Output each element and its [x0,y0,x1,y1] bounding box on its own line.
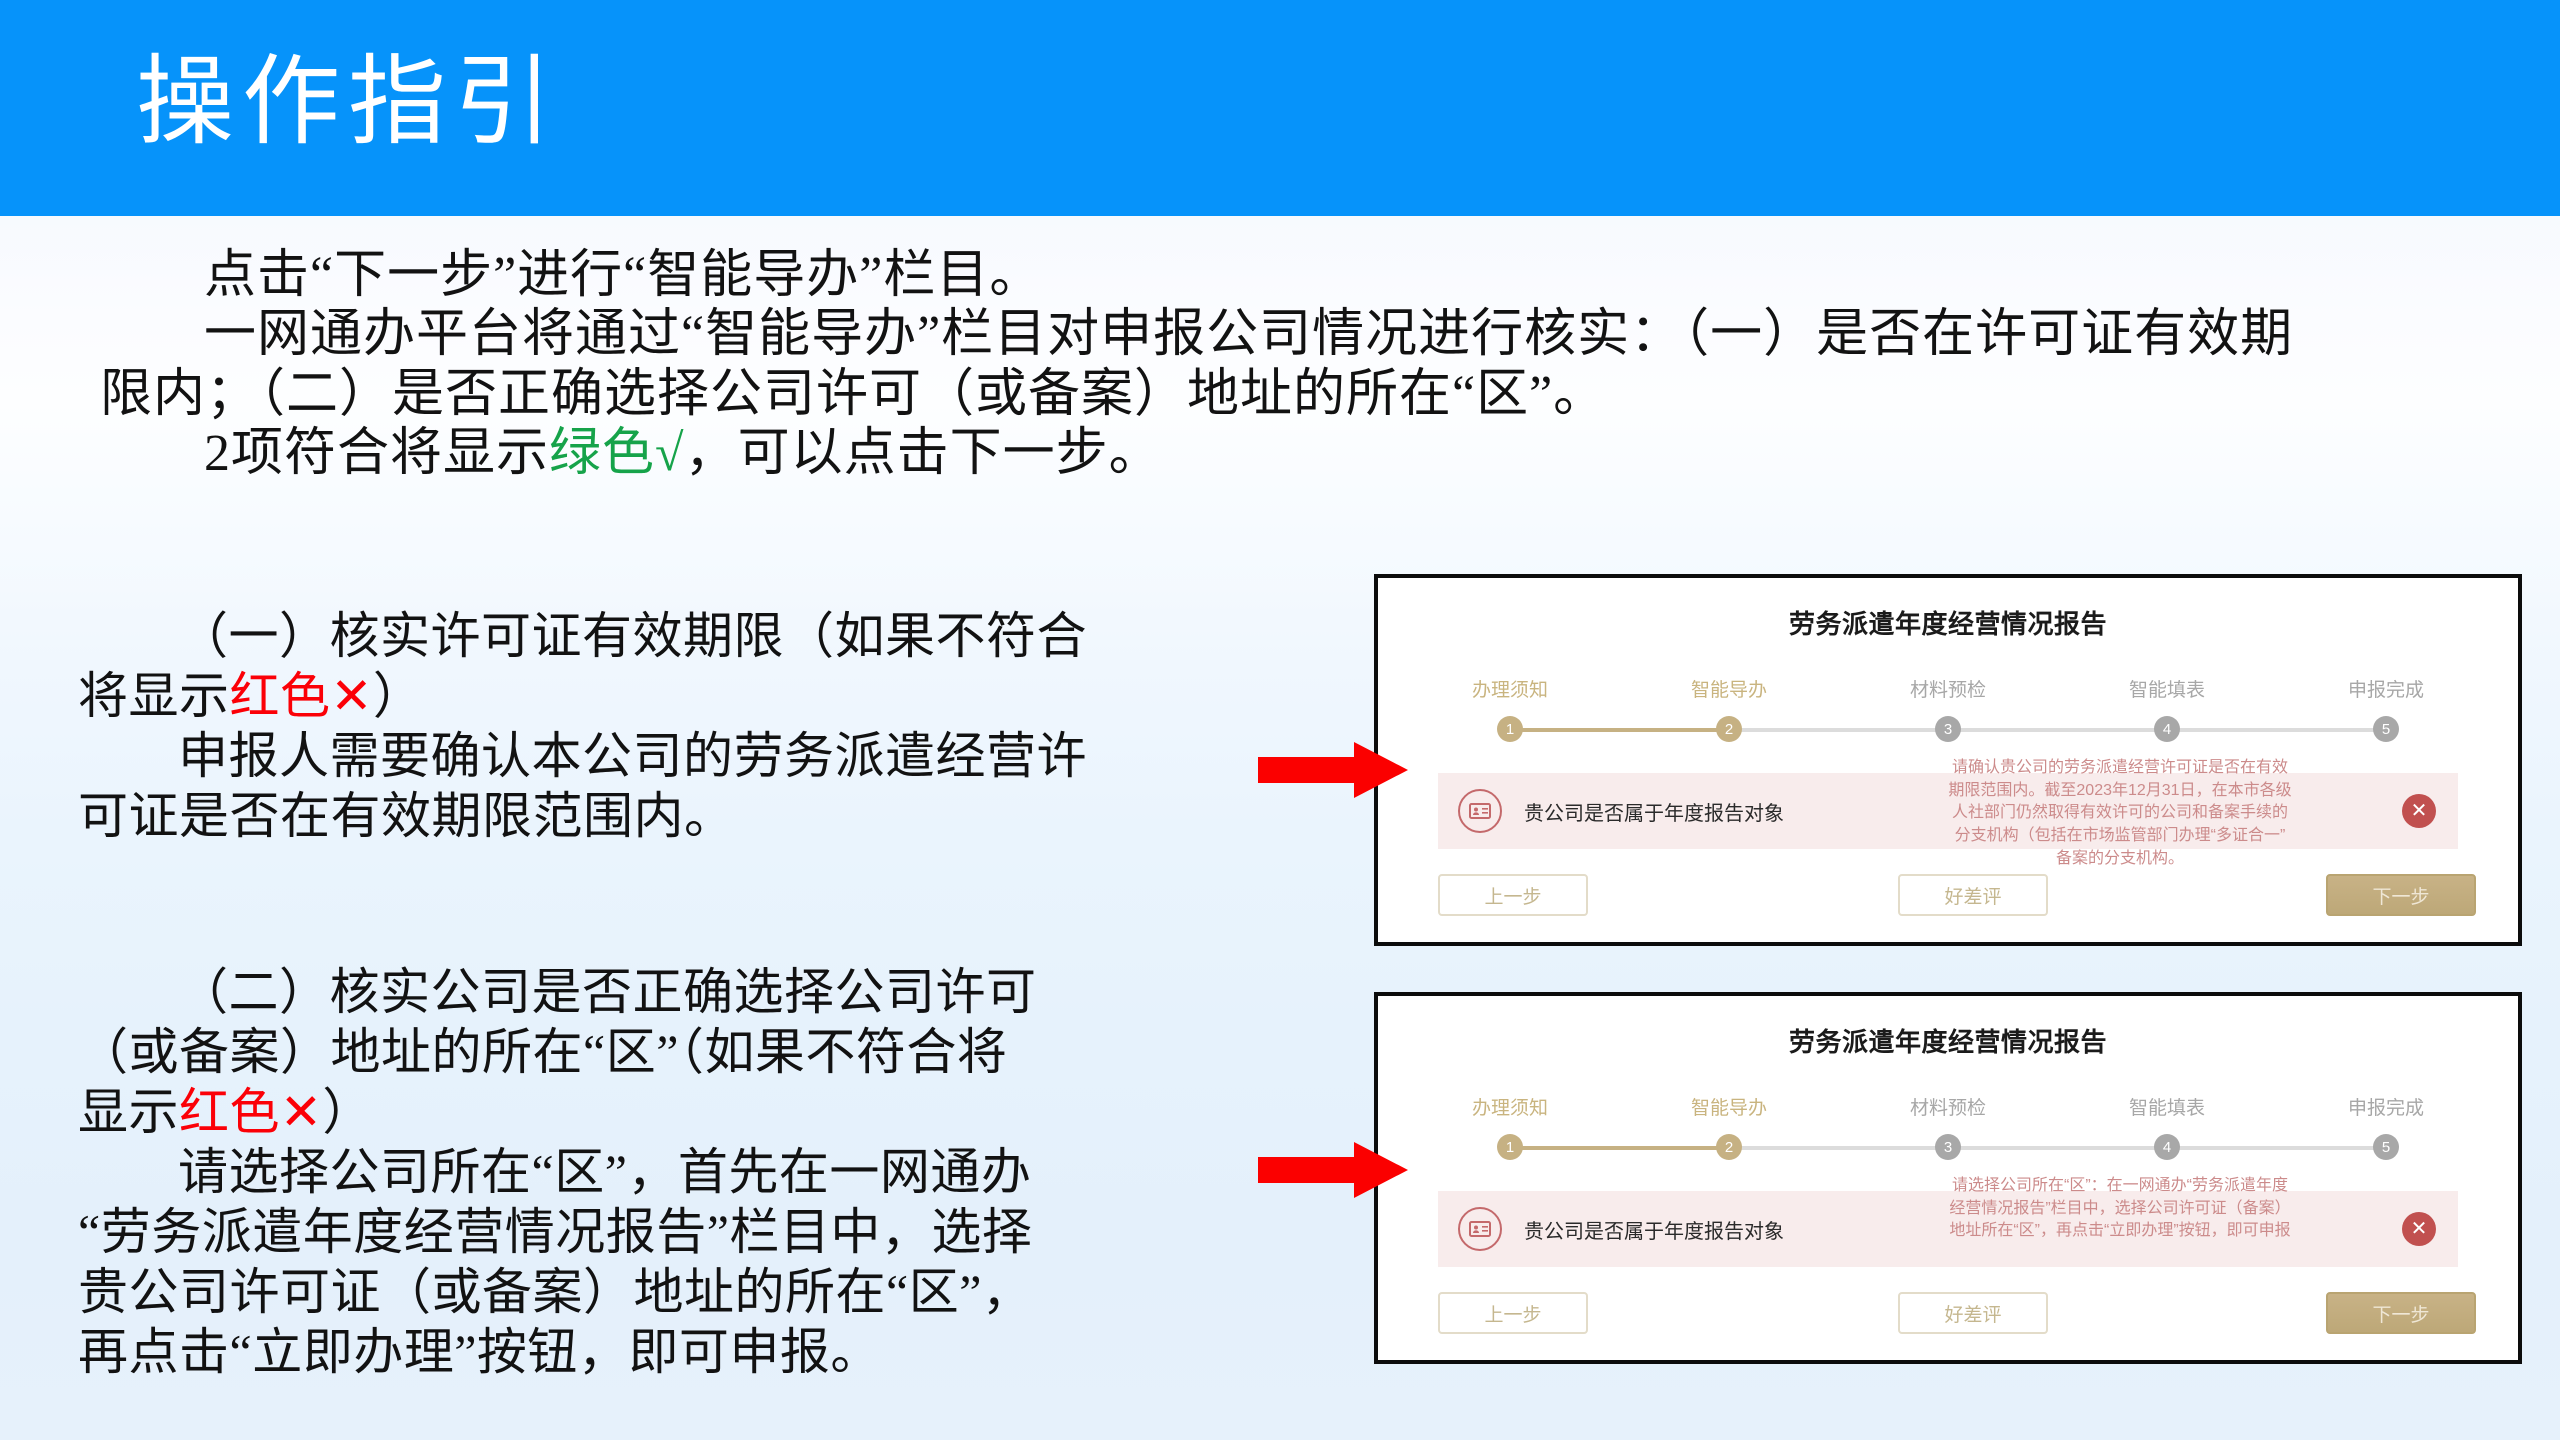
intro-line-4-suffix: ，可以点击下一步。 [685,425,1162,482]
screenshot-1-alert-row: 贵公司是否属于年度报告对象 请确认贵公司的劳务派遣经营许可证是否在有效期限范围内… [1438,773,2458,849]
block-b-suffix: ） [322,1084,373,1140]
step-label-2: 智能导办 [1669,675,1789,702]
block-a-prefix: 将显示 [78,668,230,724]
step-dot-row: 1 2 3 4 5 [1450,716,2446,742]
step-track: 1 2 3 4 5 [1450,1134,2446,1160]
red-cross-text-b: 红色✕ [179,1084,322,1140]
step-label-2: 智能导办 [1669,1093,1789,1120]
block-b-prefix: 显示 [78,1084,179,1140]
block-b-para1-line2: （或备案）地址的所在“区”（如果不符合将 [78,1022,1348,1082]
intro-line-4: 2项符合将显示绿色√，可以点击下一步。 [100,424,2460,483]
step-dot-wrap-4: 4 [2107,716,2227,742]
block-b-para2-line4: 再点击“立即办理”按钮，即可申报。 [78,1322,1348,1382]
step-dot-5[interactable]: 5 [2373,716,2399,742]
step-dot-3[interactable]: 3 [1935,1134,1961,1160]
step-dot-wrap-3: 3 [1888,1134,2008,1160]
intro-line-4-prefix: 2项符合将显示 [204,425,549,482]
screenshot-1-alert-question: 贵公司是否属于年度报告对象 [1524,797,1784,826]
step-dot-wrap-4: 4 [2107,1134,2227,1160]
next-step-button-2[interactable]: 下一步 [2326,1292,2476,1334]
block-b-para1-line1: （二）核实公司是否正确选择公司许可 [78,962,1348,1022]
step-label-1: 办理须知 [1450,675,1570,702]
screenshot-1-title: 劳务派遣年度经营情况报告 [1378,604,2518,641]
error-x-icon-2: ✕ [2402,1212,2436,1246]
block-b-para2-line1: 请选择公司所在“区”，首先在一网通办 [78,1142,1348,1202]
step-dot-wrap-5: 5 [2326,1134,2446,1160]
step-label-4: 智能填表 [2107,675,2227,702]
id-card-icon [1458,789,1502,833]
step-dot-wrap-1: 1 [1450,716,1570,742]
block-a-para2-line1: 申报人需要确认本公司的劳务派遣经营许 [78,726,1348,786]
error-x-icon-1: ✕ [2402,794,2436,828]
header-banner: 操作指引 [0,0,2560,216]
step-label-row: 办理须知 智能导办 材料预检 智能填表 申报完成 [1450,675,2446,702]
step-dot-3[interactable]: 3 [1935,716,1961,742]
block-b-para2-line3: 贵公司许可证（或备案）地址的所在“区”， [78,1262,1348,1322]
screenshot-1-stepper: 办理须知 智能导办 材料预检 智能填表 申报完成 1 2 3 4 5 [1450,675,2446,747]
intro-line-3: 限内；（二）是否正确选择公司许可（或备案）地址的所在“区”。 [100,365,2460,424]
red-cross-text-a: 红色✕ [230,668,373,724]
step-track: 1 2 3 4 5 [1450,716,2446,742]
prev-step-button-2[interactable]: 上一步 [1438,1292,1588,1334]
review-button-2[interactable]: 好差评 [1898,1292,2048,1334]
block-a-para2-line2: 可证是否在有效期限范围内。 [78,786,1348,846]
screenshot-2-alert-question: 贵公司是否属于年度报告对象 [1524,1215,1784,1244]
step-dot-wrap-5: 5 [2326,716,2446,742]
next-step-button-1[interactable]: 下一步 [2326,874,2476,916]
screenshot-2-alert-row: 贵公司是否属于年度报告对象 请选择公司所在“区”：在一网通办“劳务派遣年度经营情… [1438,1191,2458,1267]
block-a-para1-line2: 将显示红色✕） [78,666,1348,726]
screenshot-2-title: 劳务派遣年度经营情况报告 [1378,1022,2518,1059]
red-arrow-icon-1 [1258,740,1408,800]
page-title: 操作指引 [136,50,560,158]
id-card-icon [1458,1207,1502,1251]
left-column-block-a: （一）核实许可证有效期限（如果不符合 将显示红色✕） 申报人需要确认本公司的劳务… [78,606,1348,846]
screenshot-2-button-row: 上一步 好差评 下一步 [1438,1292,2476,1334]
step-dot-wrap-2: 2 [1669,1134,1789,1160]
step-dot-4[interactable]: 4 [2154,716,2180,742]
block-a-para1-line1: （一）核实许可证有效期限（如果不符合 [78,606,1348,666]
screenshot-2-alert-message: 请选择公司所在“区”：在一网通办“劳务派遣年度经营情况报告”栏目中，选择公司许可… [1948,1175,2292,1243]
step-label-5: 申报完成 [2326,1093,2446,1120]
screenshot-2-stepper: 办理须知 智能导办 材料预检 智能填表 申报完成 1 2 3 4 5 [1450,1093,2446,1165]
left-column-block-b: （二）核实公司是否正确选择公司许可 （或备案）地址的所在“区”（如果不符合将 显… [78,962,1348,1382]
review-button-1[interactable]: 好差评 [1898,874,2048,916]
intro-line-1: 点击“下一步”进行“智能导办”栏目。 [100,246,2460,305]
screenshot-1-alert-message: 请确认贵公司的劳务派遣经营许可证是否在有效期限范围内。截至2023年12月31日… [1948,757,2292,871]
block-b-para1-line3: 显示红色✕） [78,1082,1348,1142]
block-b-para2-line2: “劳务派遣年度经营情况报告”栏目中，选择 [78,1202,1348,1262]
step-dot-wrap-2: 2 [1669,716,1789,742]
green-check-text: 绿色√ [549,425,685,482]
step-label-row: 办理须知 智能导办 材料预检 智能填表 申报完成 [1450,1093,2446,1120]
intro-text-block: 点击“下一步”进行“智能导办”栏目。 一网通办平台将通过“智能导办”栏目对申报公… [100,246,2460,483]
screenshot-1-button-row: 上一步 好差评 下一步 [1438,874,2476,916]
intro-line-2: 一网通办平台将通过“智能导办”栏目对申报公司情况进行核实：（一）是否在许可证有效… [100,305,2460,364]
step-label-4: 智能填表 [2107,1093,2227,1120]
step-dot-5[interactable]: 5 [2373,1134,2399,1160]
block-a-suffix: ） [373,668,424,724]
prev-step-button-1[interactable]: 上一步 [1438,874,1588,916]
step-dot-row: 1 2 3 4 5 [1450,1134,2446,1160]
step-dot-1[interactable]: 1 [1497,716,1523,742]
step-dot-4[interactable]: 4 [2154,1134,2180,1160]
screenshot-card-1: 劳务派遣年度经营情况报告 办理须知 智能导办 材料预检 智能填表 申报完成 1 … [1374,574,2522,946]
step-dot-1[interactable]: 1 [1497,1134,1523,1160]
step-dot-2[interactable]: 2 [1716,716,1742,742]
red-arrow-icon-2 [1258,1140,1408,1200]
step-dot-2[interactable]: 2 [1716,1134,1742,1160]
step-label-1: 办理须知 [1450,1093,1570,1120]
step-label-3: 材料预检 [1888,1093,2008,1120]
step-label-5: 申报完成 [2326,675,2446,702]
step-dot-wrap-1: 1 [1450,1134,1570,1160]
step-dot-wrap-3: 3 [1888,716,2008,742]
step-label-3: 材料预检 [1888,675,2008,702]
screenshot-card-2: 劳务派遣年度经营情况报告 办理须知 智能导办 材料预检 智能填表 申报完成 1 … [1374,992,2522,1364]
